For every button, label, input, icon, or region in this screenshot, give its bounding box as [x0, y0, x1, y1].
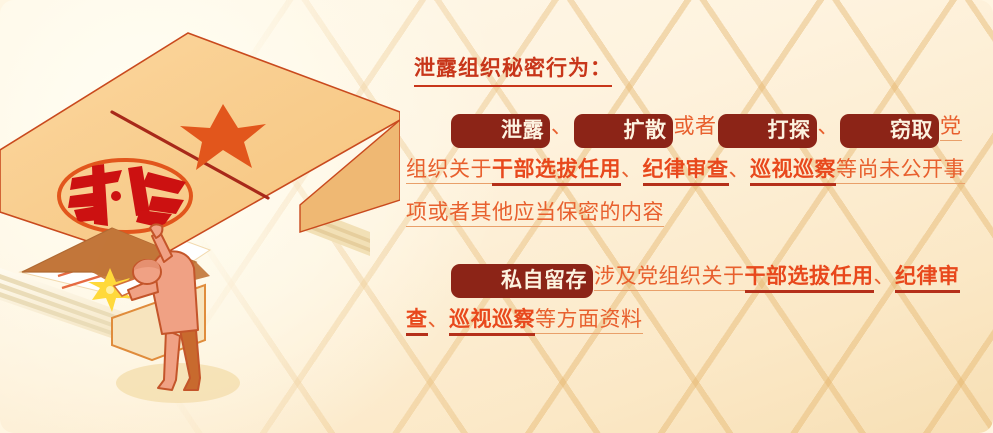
- section-heading: 泄露组织秘密行为：: [414, 52, 612, 87]
- connector-huozhe: 或者: [674, 114, 717, 138]
- text-sheji-dangzuzhi: 涉及党组织关于: [594, 264, 745, 291]
- paragraph-one: 泄露、扩散或者打探、窃取党组织关于干部选拔任用、纪律审查、巡视巡察等尚未公开事项…: [406, 105, 978, 234]
- text-column: 泄露组织秘密行为： 泄露、扩散或者打探、窃取党组织关于干部选拔任用、纪律审查、巡…: [406, 52, 978, 362]
- keyword-chip-qiequ: 窃取: [840, 114, 939, 148]
- emphasis-jilv-shencha: 纪律审查: [643, 157, 729, 186]
- keyword-chip-datan: 打探: [718, 114, 817, 148]
- punct-6: 、: [428, 307, 450, 331]
- paragraph-two: 私自留存涉及党组织关于干部选拔任用、纪律审查、巡视巡察等方面资料: [406, 255, 978, 341]
- emphasis-ganbu-xuanba: 干部选拔任用: [492, 157, 621, 186]
- emphasis-xunshi-xuncha: 巡视巡察: [750, 157, 836, 186]
- punct-2: 、: [818, 114, 840, 138]
- keyword-chip-kuosan: 扩散: [574, 114, 673, 148]
- punct-1: 、: [551, 114, 573, 138]
- punct-4: 、: [729, 157, 751, 181]
- emphasis-xunshi-xuncha-2: 巡视巡察: [449, 307, 535, 336]
- text-tail-two: 等方面资料: [535, 307, 643, 334]
- emphasis-ganbu-xuanba-2: 干部选拔任用: [745, 264, 874, 293]
- illustration-panel: [0, 0, 400, 433]
- punct-3: 、: [621, 157, 643, 181]
- poster-root: 泄露组织秘密行为： 泄露、扩散或者打探、窃取党组织关于干部选拔任用、纪律审查、巡…: [0, 0, 993, 433]
- keyword-chip-xielu: 泄露: [451, 114, 550, 148]
- punct-5: 、: [874, 264, 896, 288]
- keyword-chip-sizi-liucun: 私自留存: [451, 264, 593, 298]
